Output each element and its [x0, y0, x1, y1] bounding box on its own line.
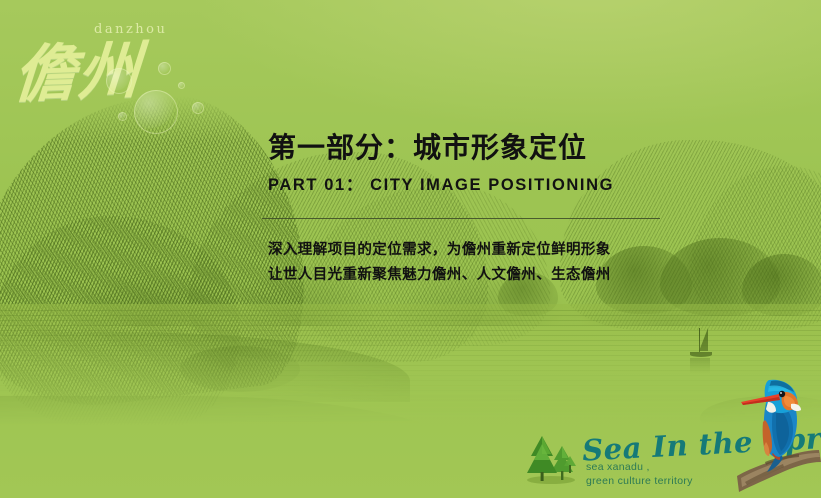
foliage-clump-icon	[180, 346, 300, 392]
logo-latin-wordmark: danzhou	[94, 22, 167, 37]
brand-tagline: sea xanadu , green culture territory	[586, 461, 693, 489]
subtitle-line-2: 让世人目光重新聚焦魅力儋州、人文儋州、生态儋州	[268, 263, 688, 288]
bubble-icon	[158, 62, 171, 75]
boat-sail	[699, 328, 708, 351]
bubble-icon	[118, 112, 127, 121]
subtitle-line-1: 深入理解项目的定位需求，为儋州重新定位鲜明形象	[268, 238, 688, 263]
bubble-icon	[178, 82, 185, 89]
presentation-slide: 儋州 danzhou 第一部分：城市形象定位 PART 01： CITY IMA…	[0, 0, 821, 498]
bubble-icon	[134, 90, 178, 134]
kingfisher-bird-icon	[735, 358, 821, 498]
section-title-english: PART 01： CITY IMAGE POSITIONING	[268, 171, 688, 195]
bubble-icon	[192, 102, 204, 114]
title-divider	[262, 218, 660, 219]
boat-hull	[690, 352, 712, 357]
brand-lockup: Sea In the Spring sea xanadu , green cul…	[524, 428, 764, 490]
headline-block: 第一部分：城市形象定位 PART 01： CITY IMAGE POSITION…	[268, 132, 688, 195]
boat-reflection	[690, 358, 710, 374]
section-title-chinese: 第一部分：城市形象定位	[268, 132, 688, 164]
danzhou-logo: 儋州 danzhou	[10, 8, 210, 108]
pine-tree-cluster-icon	[524, 432, 580, 484]
subtitle-block: 深入理解项目的定位需求，为儋州重新定位鲜明形象 让世人目光重新聚焦魅力儋州、人文…	[268, 238, 688, 288]
bubble-icon	[106, 68, 132, 94]
sailboat-icon	[688, 328, 714, 360]
